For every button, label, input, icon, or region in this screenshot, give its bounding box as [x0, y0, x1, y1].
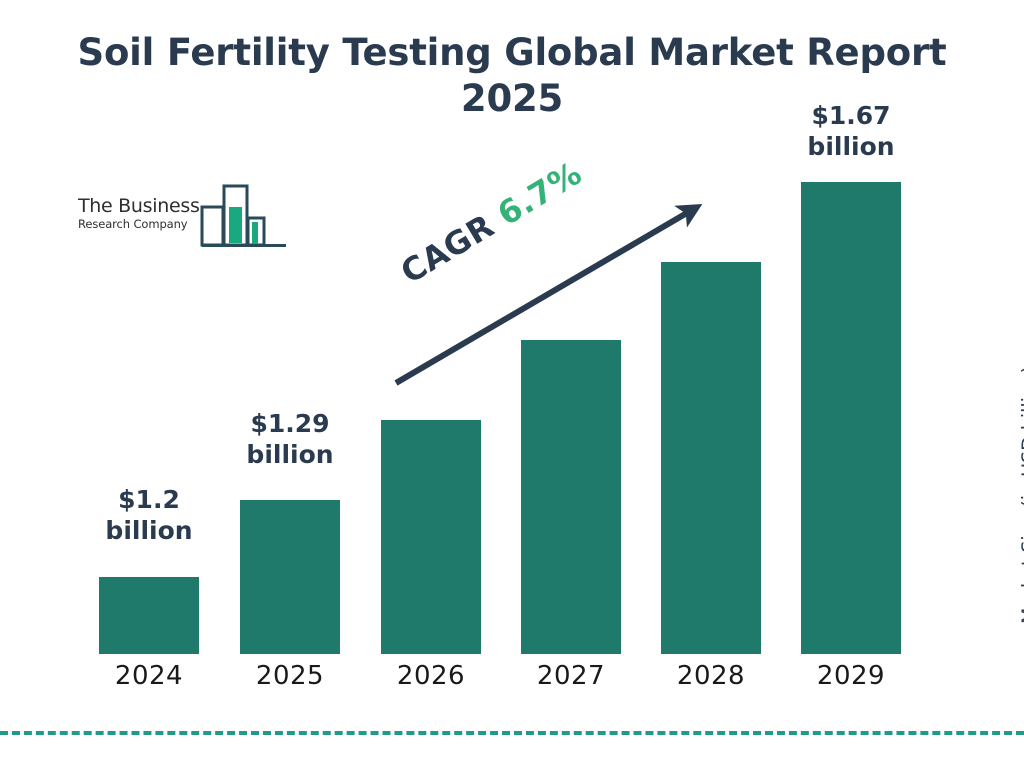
bar-2025 — [240, 500, 340, 654]
cagr-label: CAGR — [394, 207, 500, 292]
bar-value-label-2024: $1.2 billion — [79, 484, 219, 546]
bar-value-2025-line1: $1.29 — [220, 408, 360, 439]
x-tick-2024: 2024 — [89, 661, 209, 691]
bar-2026 — [381, 420, 481, 654]
bar-2024 — [99, 577, 199, 654]
bar-value-2029-line1: $1.67 — [781, 100, 921, 131]
bar-value-2029-line2: billion — [781, 131, 921, 162]
bar-value-label-2025: $1.29 billion — [220, 408, 360, 470]
bar-2028 — [661, 262, 761, 654]
cagr-annotation: CAGR 6.7% — [394, 154, 588, 291]
bar-2029 — [801, 182, 901, 654]
x-tick-2027: 2027 — [511, 661, 631, 691]
bottom-divider — [0, 731, 1024, 735]
bar-value-2024-line1: $1.2 — [79, 484, 219, 515]
x-tick-2026: 2026 — [371, 661, 491, 691]
bar-chart: $1.2 billion $1.29 billion $1.67 billion… — [0, 0, 1024, 768]
y-axis-title: Market Size (in USD billion) — [1018, 330, 1024, 660]
x-tick-2025: 2025 — [230, 661, 350, 691]
x-tick-2029: 2029 — [791, 661, 911, 691]
bar-value-2024-line2: billion — [79, 515, 219, 546]
bar-2027 — [521, 340, 621, 654]
bar-value-2025-line2: billion — [220, 439, 360, 470]
x-tick-2028: 2028 — [651, 661, 771, 691]
bar-value-label-2029: $1.67 billion — [781, 100, 921, 162]
cagr-value: 6.7% — [491, 154, 588, 233]
